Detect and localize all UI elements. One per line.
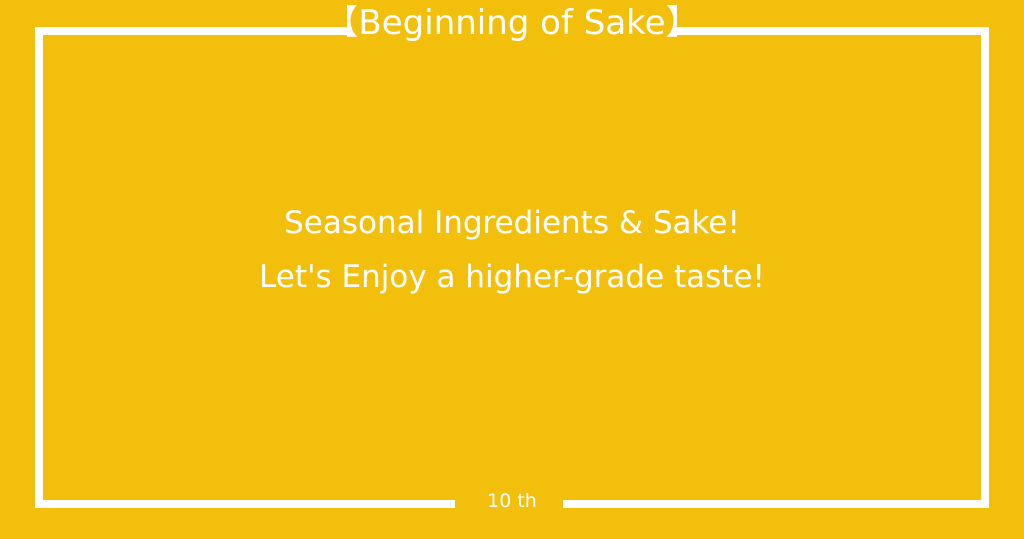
body-copy: Seasonal Ingredients & Sake! Let's Enjoy… [43, 196, 981, 304]
body-line-2: Let's Enjoy a higher-grade taste! [43, 250, 981, 304]
frame-left-segment [35, 27, 43, 508]
page-title: 【Beginning of Sake】 [324, 6, 699, 40]
footer-label: 10 th [487, 492, 537, 511]
footer: 10 th [0, 492, 1024, 511]
sake-poster: 【Beginning of Sake】 Seasonal Ingredients… [0, 0, 1024, 539]
frame-top-right-segment [673, 27, 989, 35]
frame-top-left-segment [35, 27, 352, 35]
frame-right-segment [981, 27, 989, 508]
body-line-1: Seasonal Ingredients & Sake! [43, 196, 981, 250]
